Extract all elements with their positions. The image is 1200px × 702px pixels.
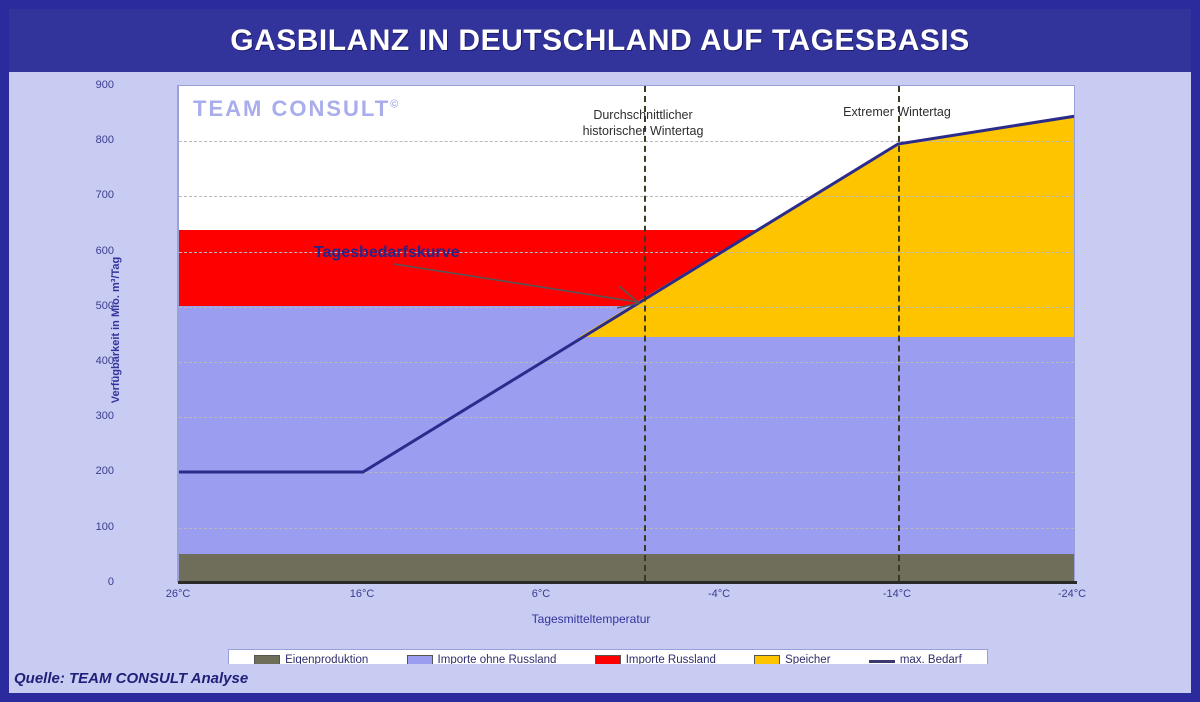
- annotation-line-1: Durchschnittlicher: [583, 108, 704, 124]
- x-tick--24: -24°C: [1058, 588, 1086, 600]
- annotation-durchschnittlicher-wintertag: Durchschnittlicher historischer Winterta…: [583, 108, 704, 139]
- copyright-icon: ©: [390, 99, 398, 111]
- legend-line-icon: [869, 660, 895, 663]
- x-tick-26: 26°C: [166, 588, 191, 600]
- y-tick-900: 900: [70, 79, 114, 91]
- x-tick-6: 6°C: [532, 588, 550, 600]
- y-tick-0: 0: [70, 576, 114, 588]
- x-tick--14: -14°C: [883, 588, 911, 600]
- plot-area: TEAM CONSULT© Tagesbedarfskurve: [178, 85, 1075, 582]
- y-tick-600: 600: [70, 245, 114, 257]
- annotation-extremer-wintertag: Extremer Wintertag: [843, 105, 951, 121]
- page-title: GASBILANZ IN DEUTSCHLAND AUF TAGESBASIS: [230, 24, 970, 58]
- plot-wrap: TEAM CONSULT© Tagesbedarfskurve: [178, 85, 1075, 582]
- title-bar: GASBILANZ IN DEUTSCHLAND AUF TAGESBASIS: [9, 9, 1191, 72]
- x-tick-16: 16°C: [350, 588, 375, 600]
- x-axis-line: [178, 581, 1077, 584]
- y-tick-700: 700: [70, 189, 114, 201]
- x-tick--4: -4°C: [708, 588, 730, 600]
- x-axis-title: Tagesmitteltemperatur: [0, 612, 1182, 626]
- y-tick-200: 200: [70, 465, 114, 477]
- team-consult-watermark: TEAM CONSULT©: [193, 96, 398, 122]
- callout-arrow-line: [394, 264, 637, 302]
- y-tick-800: 800: [70, 134, 114, 146]
- y-tick-300: 300: [70, 410, 114, 422]
- y-axis-line: [177, 85, 179, 582]
- callout-arrow-head: [617, 286, 639, 308]
- callout-arrow-svg: [179, 86, 1075, 582]
- y-tick-100: 100: [70, 521, 114, 533]
- annotation-line-2: historischer Wintertag: [583, 124, 704, 140]
- y-tick-500: 500: [70, 300, 114, 312]
- y-tick-400: 400: [70, 355, 114, 367]
- curve-label: Tagesbedarfskurve: [314, 244, 460, 262]
- watermark-text: TEAM CONSULT: [193, 96, 390, 121]
- y-axis-title: Verfügbarkeit in Mio. m³/Tag: [110, 257, 122, 403]
- source-note: Quelle: TEAM CONSULT Analyse: [14, 670, 248, 687]
- chart-page: GASBILANZ IN DEUTSCHLAND AUF TAGESBASIS …: [0, 0, 1200, 702]
